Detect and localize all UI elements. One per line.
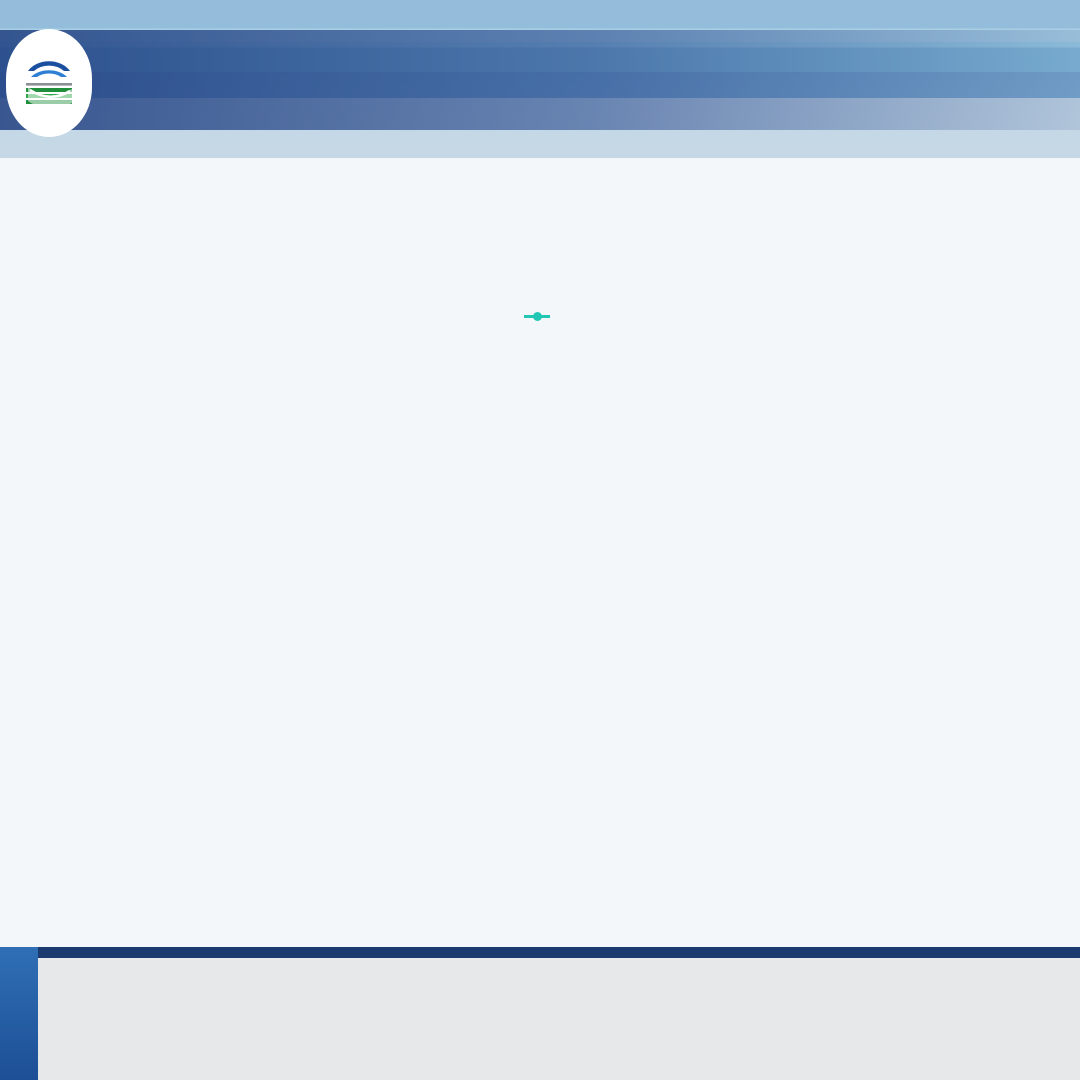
header-text-band: [0, 30, 1080, 130]
sst-chart: [22, 201, 1058, 311]
bmkg-logo-mark: [18, 54, 80, 112]
legend-main: [38, 947, 1080, 1080]
bmkg-logo: [6, 29, 92, 137]
legend-side-tab: [0, 947, 38, 1080]
legend-items: [38, 958, 1080, 964]
sst-legend-swatch: [524, 315, 550, 318]
page-header: [0, 0, 1080, 158]
legend-note: [38, 947, 1080, 958]
legend-bar: [0, 947, 1080, 1080]
